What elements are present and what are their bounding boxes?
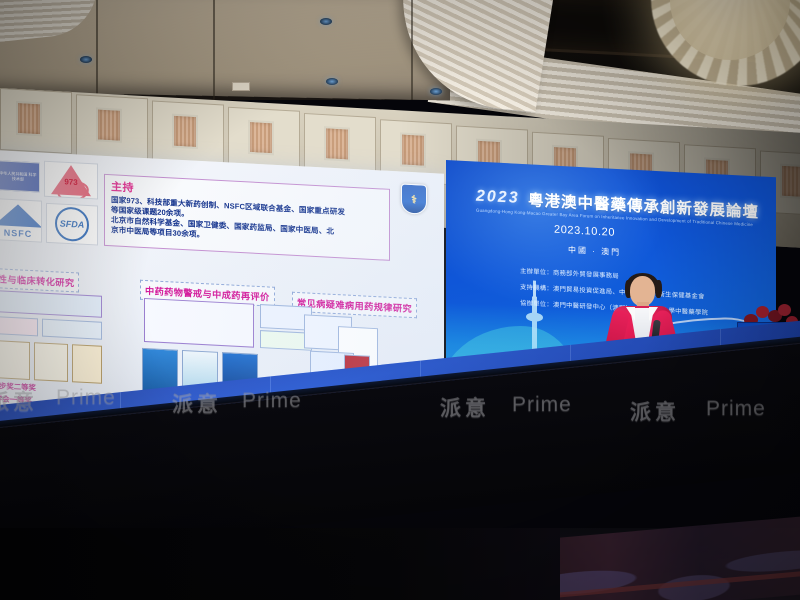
- shield-emblem-icon: ⚕: [411, 192, 417, 205]
- wall-panel-inset: [16, 101, 42, 136]
- nsfc-roof-icon: [0, 203, 42, 228]
- downlight-icon: [80, 56, 92, 63]
- sfda-ring-icon: SFDA: [55, 206, 89, 242]
- diagram-card: [0, 315, 38, 336]
- award-text-1: 国家科技进步奖二等奖: [0, 378, 36, 393]
- downlight-icon: [430, 88, 442, 95]
- ceiling: [0, 0, 800, 100]
- nsfc-logo: NSFC: [0, 198, 42, 243]
- university-shield-logo: ⚕: [401, 183, 427, 214]
- floor-carpet: [0, 528, 800, 600]
- certificate-image: [72, 344, 102, 384]
- program-973-logo: 973: [44, 161, 98, 200]
- certificate-image: [0, 340, 30, 380]
- downlight-icon: [320, 18, 332, 25]
- carpet-shadow-left: [0, 528, 560, 600]
- diagram-card: [42, 319, 102, 340]
- host-section: 主持 国家973、科技部重大新药创制、NSFC区域联合基金、国家重点研发 等国家…: [104, 174, 390, 261]
- wall-panel-inset: [780, 164, 800, 199]
- presenter-hair-right: [655, 280, 662, 298]
- wall-panel-inset: [248, 120, 274, 155]
- ceiling-vent: [232, 82, 250, 91]
- 973-label: 973: [64, 177, 77, 187]
- wall-panel-inset: [96, 107, 122, 142]
- wall-panel-inset: [324, 126, 350, 161]
- mofcom-logo-text: 中华人民共和国 科学技术部: [0, 170, 37, 182]
- mofcom-logo: 中华人民共和国 科学技术部: [0, 160, 40, 192]
- nsfc-label: NSFC: [0, 227, 41, 239]
- downlight-icon: [326, 78, 338, 85]
- wall-panel-inset: [172, 114, 198, 149]
- certificate-image: [34, 342, 68, 382]
- diagram-card: [0, 289, 102, 317]
- flowchart-image: [144, 298, 254, 348]
- ceiling-seam: [96, 0, 98, 100]
- wall-panel-inset: [400, 132, 426, 167]
- conference-stage-photo: 中华人民共和国 科学技术部 973 NSFC SFDA ⚕ 主持 国家973、科…: [0, 0, 800, 600]
- led-title-year: 2023: [476, 188, 520, 208]
- ceiling-seam: [213, 0, 215, 100]
- ceiling-seam: [411, 0, 413, 100]
- sfda-logo: SFDA: [46, 203, 98, 246]
- section-heading-1: 中药药性与临床转化研究: [0, 267, 79, 293]
